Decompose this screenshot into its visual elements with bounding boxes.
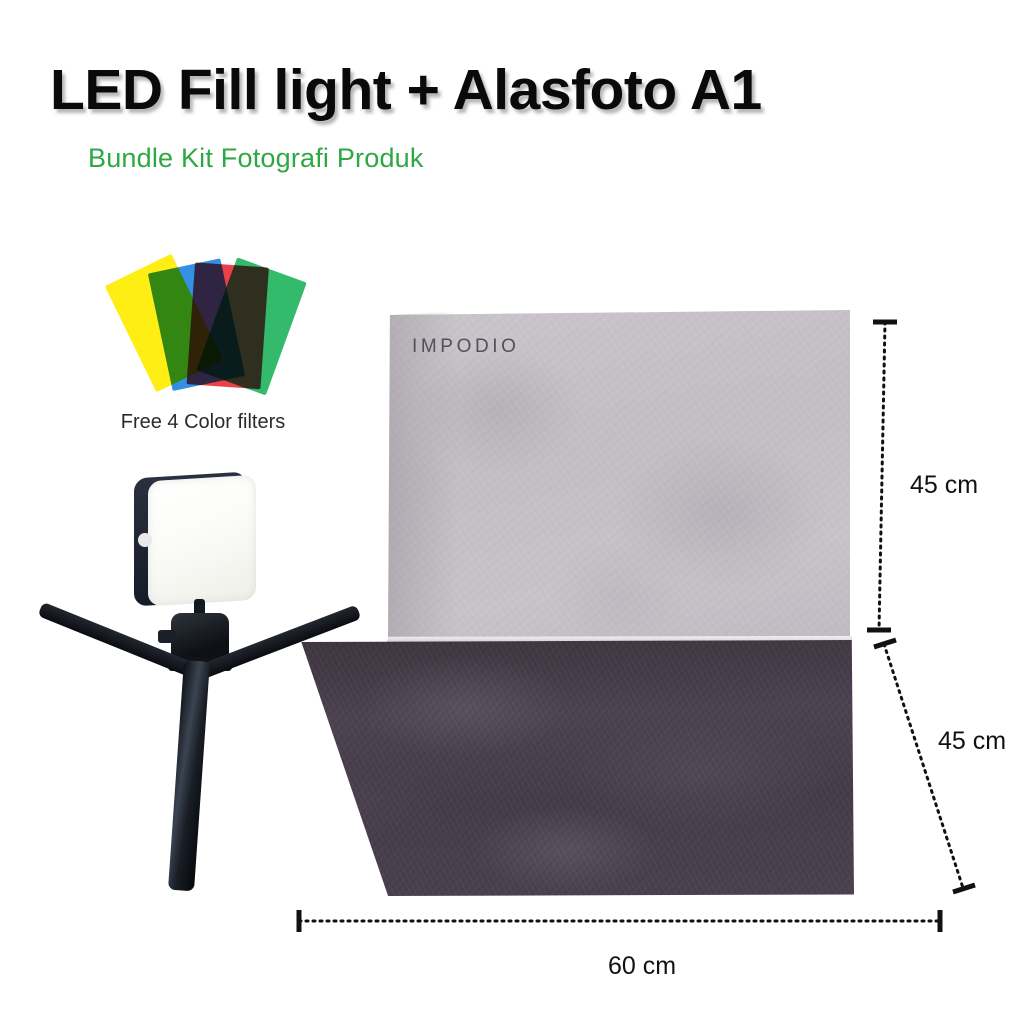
depth-dimension-cap-bottom: [953, 885, 975, 892]
product-marketing-image: LED Fill light + Alasfoto A1 Bundle Kit …: [0, 0, 1024, 1024]
led-side-knob: [138, 533, 152, 547]
depth-dimension-label: 45 cm: [938, 727, 1006, 756]
tripod-leg-center: [168, 660, 210, 891]
ball-head-lock-knob: [158, 630, 176, 643]
page-subtitle: Bundle Kit Fotografi Produk: [88, 143, 424, 174]
backdrop-floor-texture: [298, 640, 854, 896]
height-dimension-label: 45 cm: [910, 471, 978, 500]
page-title: LED Fill light + Alasfoto A1: [50, 57, 762, 123]
brand-watermark: IMPODIO: [412, 336, 520, 358]
width-dimension-label: 60 cm: [608, 952, 676, 981]
alasfoto-backdrop-product: IMPODIO: [280, 300, 900, 910]
led-light-panel: [148, 475, 256, 607]
free-filters-caption: Free 4 Color filters: [98, 411, 308, 434]
backdrop-wall-shading: [388, 310, 458, 642]
